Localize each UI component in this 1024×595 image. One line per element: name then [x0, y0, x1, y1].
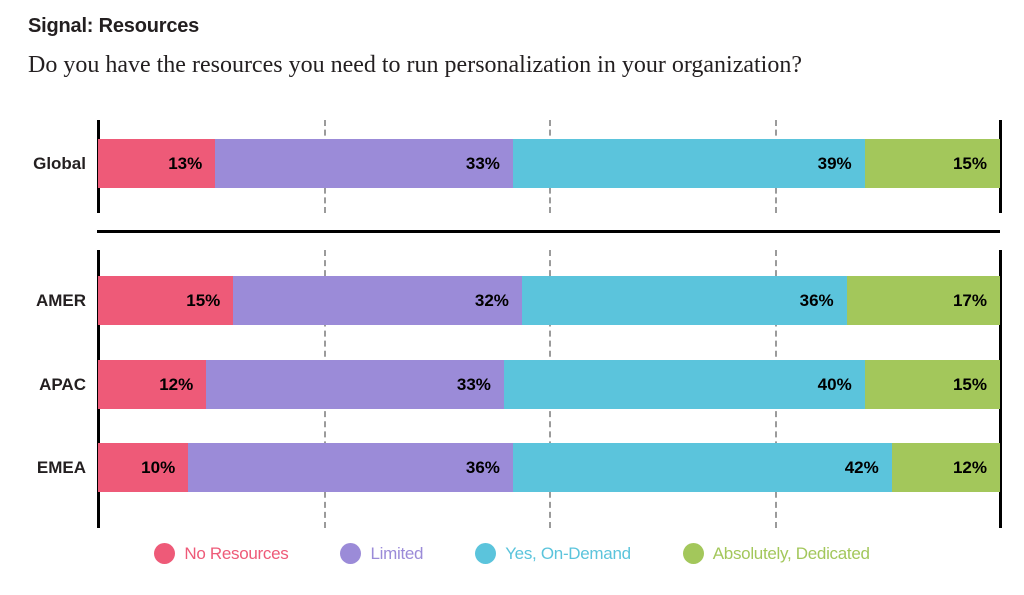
legend-swatch-icon [475, 543, 496, 564]
bar-segment[interactable]: 12% [892, 443, 1000, 492]
bar-track: 15%32%36%17% [98, 276, 1000, 325]
legend-swatch-icon [340, 543, 361, 564]
bar-segment[interactable]: 32% [233, 276, 522, 325]
chart-subtitle: Do you have the resources you need to ru… [28, 52, 802, 79]
bar-segment[interactable]: 40% [504, 360, 865, 409]
legend-item[interactable]: Yes, On-Demand [475, 543, 631, 564]
bar-segment[interactable]: 15% [865, 360, 1000, 409]
bar-segment[interactable]: 10% [98, 443, 188, 492]
plot-section-regions: AMER15%32%36%17%APAC12%33%40%15%EMEA10%3… [0, 250, 1024, 528]
bar-segment[interactable]: 13% [98, 139, 215, 188]
bar-row: EMEA10%36%42%12% [0, 443, 1024, 492]
bar-track: 12%33%40%15% [98, 360, 1000, 409]
bar-segment[interactable]: 36% [188, 443, 513, 492]
legend-swatch-icon [154, 543, 175, 564]
legend-label: Limited [370, 544, 423, 564]
row-label-global: Global [0, 139, 86, 188]
bar-segment[interactable]: 33% [215, 139, 513, 188]
bar-segment[interactable]: 15% [865, 139, 1000, 188]
legend-item[interactable]: No Resources [154, 543, 288, 564]
bar-segment[interactable]: 42% [513, 443, 892, 492]
legend-label: Absolutely, Dedicated [713, 544, 870, 564]
chart-legend: No ResourcesLimitedYes, On-DemandAbsolut… [0, 543, 1024, 564]
bar-segment[interactable]: 15% [98, 276, 233, 325]
page-title: Signal: Resources [28, 15, 199, 38]
legend-label: Yes, On-Demand [505, 544, 631, 564]
bar-segment[interactable]: 36% [522, 276, 847, 325]
legend-swatch-icon [683, 543, 704, 564]
bar-track: 13%33%39%15% [98, 139, 1000, 188]
bar-segment[interactable]: 12% [98, 360, 206, 409]
row-label-amer: AMER [0, 276, 86, 325]
legend-item[interactable]: Limited [340, 543, 423, 564]
row-label-emea: EMEA [0, 443, 86, 492]
row-label-apac: APAC [0, 360, 86, 409]
bar-row: Global13%33%39%15% [0, 139, 1024, 188]
plot-section-global: Global13%33%39%15% [0, 120, 1024, 213]
legend-item[interactable]: Absolutely, Dedicated [683, 543, 870, 564]
legend-label: No Resources [184, 544, 288, 564]
bar-track: 10%36%42%12% [98, 443, 1000, 492]
bar-row: APAC12%33%40%15% [0, 360, 1024, 409]
bar-segment[interactable]: 17% [847, 276, 1000, 325]
bar-segment[interactable]: 39% [513, 139, 865, 188]
bar-segment[interactable]: 33% [206, 360, 504, 409]
group-separator [97, 230, 1000, 233]
bar-row: AMER15%32%36%17% [0, 276, 1024, 325]
